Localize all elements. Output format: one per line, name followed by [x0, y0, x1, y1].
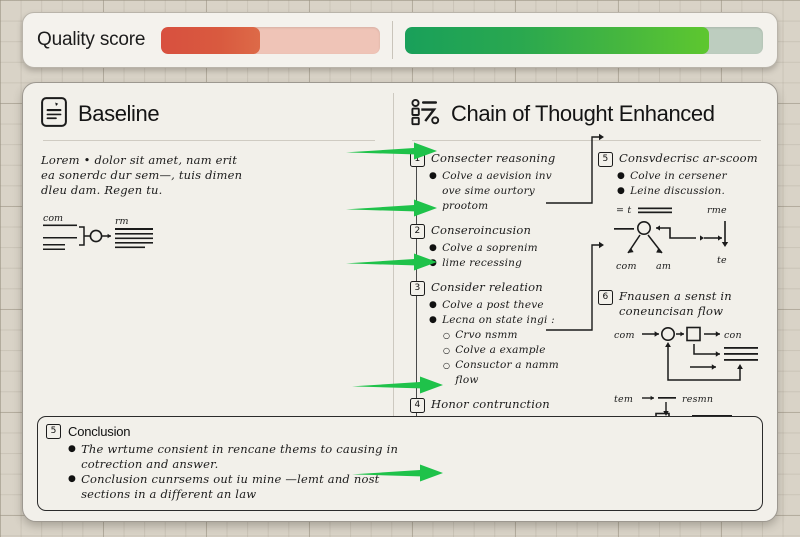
- cot-title: Chain of Thought Enhanced: [451, 101, 715, 127]
- comparison-arrow: [344, 140, 440, 162]
- quality-score-card: Quality score: [22, 12, 778, 68]
- cot-step-2-title: Conseroincusion: [431, 223, 531, 238]
- bullet-dot: ●: [68, 472, 76, 487]
- cot-step-6-number: 6: [598, 290, 613, 305]
- bullet-dot: ●: [617, 169, 625, 184]
- conclusion-title: Conclusion: [68, 424, 130, 439]
- cot-step-4-number: 4: [410, 398, 425, 413]
- sub-bullet-dot: ○: [443, 328, 450, 343]
- sub-bullet-dot: ○: [443, 343, 450, 358]
- svg-text:= t: = t: [616, 205, 631, 216]
- svg-text:con: con: [724, 330, 742, 341]
- cot-step-6-title: Fnausen a senst in: [619, 289, 732, 304]
- svg-text:com: com: [616, 261, 637, 272]
- svg-text:com: com: [614, 330, 635, 341]
- cot-step-2-number: 2: [410, 224, 425, 239]
- cot-quality-bar-fill: [405, 27, 709, 54]
- bullet-dot: ●: [68, 442, 76, 457]
- cot-step-3-subbullet: Consuctor a namm: [455, 358, 559, 373]
- cot-step-5-number: 5: [598, 152, 613, 167]
- svg-text:te: te: [717, 255, 727, 266]
- cot-step-3-title: Consider releation: [431, 280, 543, 295]
- comparison-arrow: [350, 462, 446, 484]
- cot-header: Chain of Thought Enhanced: [410, 97, 763, 131]
- cot-step-3: 3 Consider releation ●Colve a post theve…: [410, 280, 588, 388]
- baseline-diagram-right-label: rm: [115, 216, 129, 227]
- cot-step-1-bullet: ove sime ourtory: [442, 184, 535, 199]
- cot-step-3-subbullet: Crvo nsmm: [455, 328, 518, 343]
- cot-step-6-title-line2: coneuncisan flow: [619, 304, 732, 319]
- conclusion-bullet: The wrtume consient in rencane thems to …: [81, 442, 398, 457]
- cot-step-5-bullet: Leine discussion.: [630, 184, 725, 199]
- cot-step-3-subbullet: flow: [455, 373, 478, 388]
- conclusion-bullet: sections in a different an law: [81, 487, 256, 502]
- baseline-header-rule: [43, 140, 375, 141]
- cot-step-6: 6 Fnausen a senst in coneuncisan flow co…: [598, 289, 763, 437]
- comparison-arrow: [350, 374, 446, 396]
- conclusion-bullet: cotrection and answer.: [81, 457, 218, 472]
- baseline-paragraph: Lorem • dolor sit amet, nam erit ea sone…: [41, 153, 291, 198]
- baseline-diagram: com rm: [41, 212, 377, 265]
- sub-bullet-dot: ○: [443, 358, 450, 373]
- cot-step-5: 5 Consvdecrisc ar-scoom ●Colve in cersen…: [598, 151, 763, 280]
- cot-step-3-subbullet: Colve a example: [455, 343, 545, 358]
- document-icon: [41, 97, 67, 132]
- bullet-dot: ●: [617, 184, 625, 199]
- svg-text:rme: rme: [707, 205, 727, 216]
- baseline-header: Baseline: [41, 97, 377, 131]
- cot-step-5-diagram: = t rme: [612, 201, 763, 280]
- svg-text:tem: tem: [614, 394, 633, 405]
- cot-step-2-bullet: Colve a soprenim: [442, 241, 538, 256]
- svg-text:resmn: resmn: [682, 394, 713, 405]
- cot-step-5-bullet: Colve in cersener: [630, 169, 727, 184]
- cot-step-1-title: Consecter reasoning: [431, 151, 556, 166]
- cot-header-rule: [412, 140, 761, 141]
- comparison-arrow: [344, 251, 440, 273]
- cot-step-1-bullet: prootom: [442, 199, 488, 214]
- cot-step-1-bullet: Colve a aevision inv: [442, 169, 552, 184]
- bullet-dot: ●: [429, 313, 437, 328]
- bullet-dot: ●: [429, 169, 437, 184]
- bullet-dot: ●: [429, 298, 437, 313]
- baseline-quality-bar-fill: [161, 27, 260, 54]
- cot-step-3-number: 3: [410, 281, 425, 296]
- cot-step-3-bullet: Lecna on state ingi :: [442, 313, 555, 328]
- quality-score-label: Quality score: [37, 29, 145, 51]
- flowchart-icon: [410, 97, 440, 132]
- baseline-paragraph-line: dleu dam. Regen tu.: [41, 183, 291, 198]
- score-bar-separator: [392, 21, 393, 59]
- cot-step-2-bullet: lime recessing: [442, 256, 522, 271]
- baseline-paragraph-line: ea sonerdc dur sem—, tuis dimen: [41, 168, 291, 183]
- comparison-arrow: [344, 197, 440, 219]
- cot-step-3-bullet: Colve a post theve: [442, 298, 544, 313]
- baseline-paragraph-line: Lorem • dolor sit amet, nam erit: [41, 153, 291, 168]
- conclusion-number: 5: [46, 424, 61, 439]
- baseline-title: Baseline: [78, 101, 159, 127]
- cot-step-5-title: Consvdecrisc ar-scoom: [619, 151, 758, 166]
- baseline-diagram-left-label: com: [43, 213, 63, 224]
- cot-quality-bar: [405, 27, 763, 54]
- cot-step-4-title: Honor contrunction: [431, 397, 550, 412]
- svg-text:am: am: [656, 261, 671, 272]
- conclusion-bullet: Conclusion cunrsems out iu mine —lemt an…: [81, 472, 379, 487]
- baseline-quality-bar: [161, 27, 380, 54]
